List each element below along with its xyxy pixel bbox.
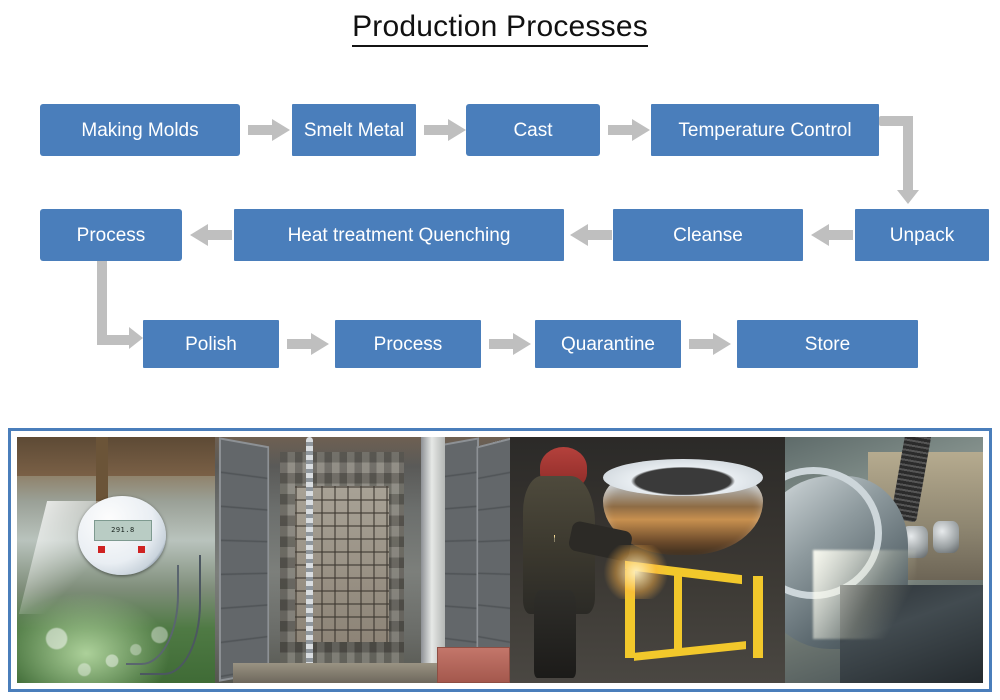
red-pan: [437, 647, 510, 683]
arrow-making-molds-to-smelt-metal: [248, 119, 290, 141]
flow-node-label: Quarantine: [561, 335, 655, 354]
arrow-quarantine-to-store: [689, 333, 731, 355]
furnace-door-left: [219, 437, 269, 682]
flow-node-label: Unpack: [890, 226, 954, 245]
flow-node-quarantine[interactable]: Quarantine: [535, 320, 681, 368]
coolant-spray: [813, 550, 916, 639]
ceiling-beam: [17, 437, 215, 476]
flow-node-label: Making Molds: [81, 121, 198, 140]
arrow-unpack-to-cleanse: [811, 224, 853, 246]
grinding-deburring-photo: [510, 437, 785, 683]
flow-node-unpack[interactable]: Unpack: [855, 209, 989, 261]
flow-node-label: Polish: [185, 335, 237, 354]
flow-node-smelt-metal[interactable]: Smelt Metal: [292, 104, 416, 156]
arrow-smelt-metal-to-cast: [424, 119, 466, 141]
casting-rim: [603, 459, 763, 496]
flow-node-label: Smelt Metal: [304, 121, 404, 140]
flow-node-store[interactable]: Store: [737, 320, 918, 368]
diagram-canvas: Production Processes Making Molds Smelt …: [0, 0, 1000, 700]
heat-treatment-furnace-photo: [215, 437, 510, 683]
flow-node-polish[interactable]: Polish: [143, 320, 279, 368]
flow-node-label: Temperature Control: [678, 121, 851, 140]
flow-node-cleanse[interactable]: Cleanse: [613, 209, 803, 261]
arrow-cleanse-to-heat-treatment: [570, 224, 612, 246]
machine-bolt-3: [933, 521, 959, 553]
photo-gallery-frame: 291.8: [8, 428, 992, 692]
machining-lathe-photo: [785, 437, 983, 683]
spark-shower: [554, 535, 747, 683]
arrow-polish-to-process: [287, 333, 329, 355]
flow-node-label: Cleanse: [673, 226, 743, 245]
flow-node-process-row2[interactable]: Process: [40, 209, 182, 261]
flow-node-label: Cast: [513, 121, 552, 140]
page-title: Production Processes: [0, 10, 1000, 44]
flow-node-label: Store: [805, 335, 850, 354]
furnace-base: [233, 663, 439, 683]
arrow-cast-to-temperature-control: [608, 119, 650, 141]
temperature-measurement-photo: 291.8: [17, 437, 215, 683]
thermometer-display: 291.8: [94, 520, 152, 541]
gauge-button-left: [98, 546, 106, 552]
flow-node-process-row3[interactable]: Process: [335, 320, 481, 368]
page-title-text: Production Processes: [352, 10, 648, 47]
hoist-chain: [306, 437, 313, 673]
flow-node-label: Heat treatment Quenching: [288, 226, 511, 245]
flow-node-temperature-control[interactable]: Temperature Control: [651, 104, 879, 156]
photo-gallery-row: 291.8: [17, 437, 983, 683]
quench-tank-surface: [17, 609, 215, 683]
connector-temperature-control-to-unpack: [879, 116, 939, 212]
arrow-process-to-quarantine: [489, 333, 531, 355]
arrow-heat-treatment-to-process: [190, 224, 232, 246]
flow-node-cast[interactable]: Cast: [466, 104, 600, 156]
furnace-door-far-right: [477, 437, 510, 682]
flow-node-heat-treatment-quenching[interactable]: Heat treatment Quenching: [234, 209, 564, 261]
flow-node-label: Process: [77, 226, 146, 245]
flow-node-label: Process: [374, 335, 443, 354]
furnace-cavity: [280, 452, 404, 664]
flow-node-making-molds[interactable]: Making Molds: [40, 104, 240, 156]
gauge-button-right: [138, 546, 146, 552]
